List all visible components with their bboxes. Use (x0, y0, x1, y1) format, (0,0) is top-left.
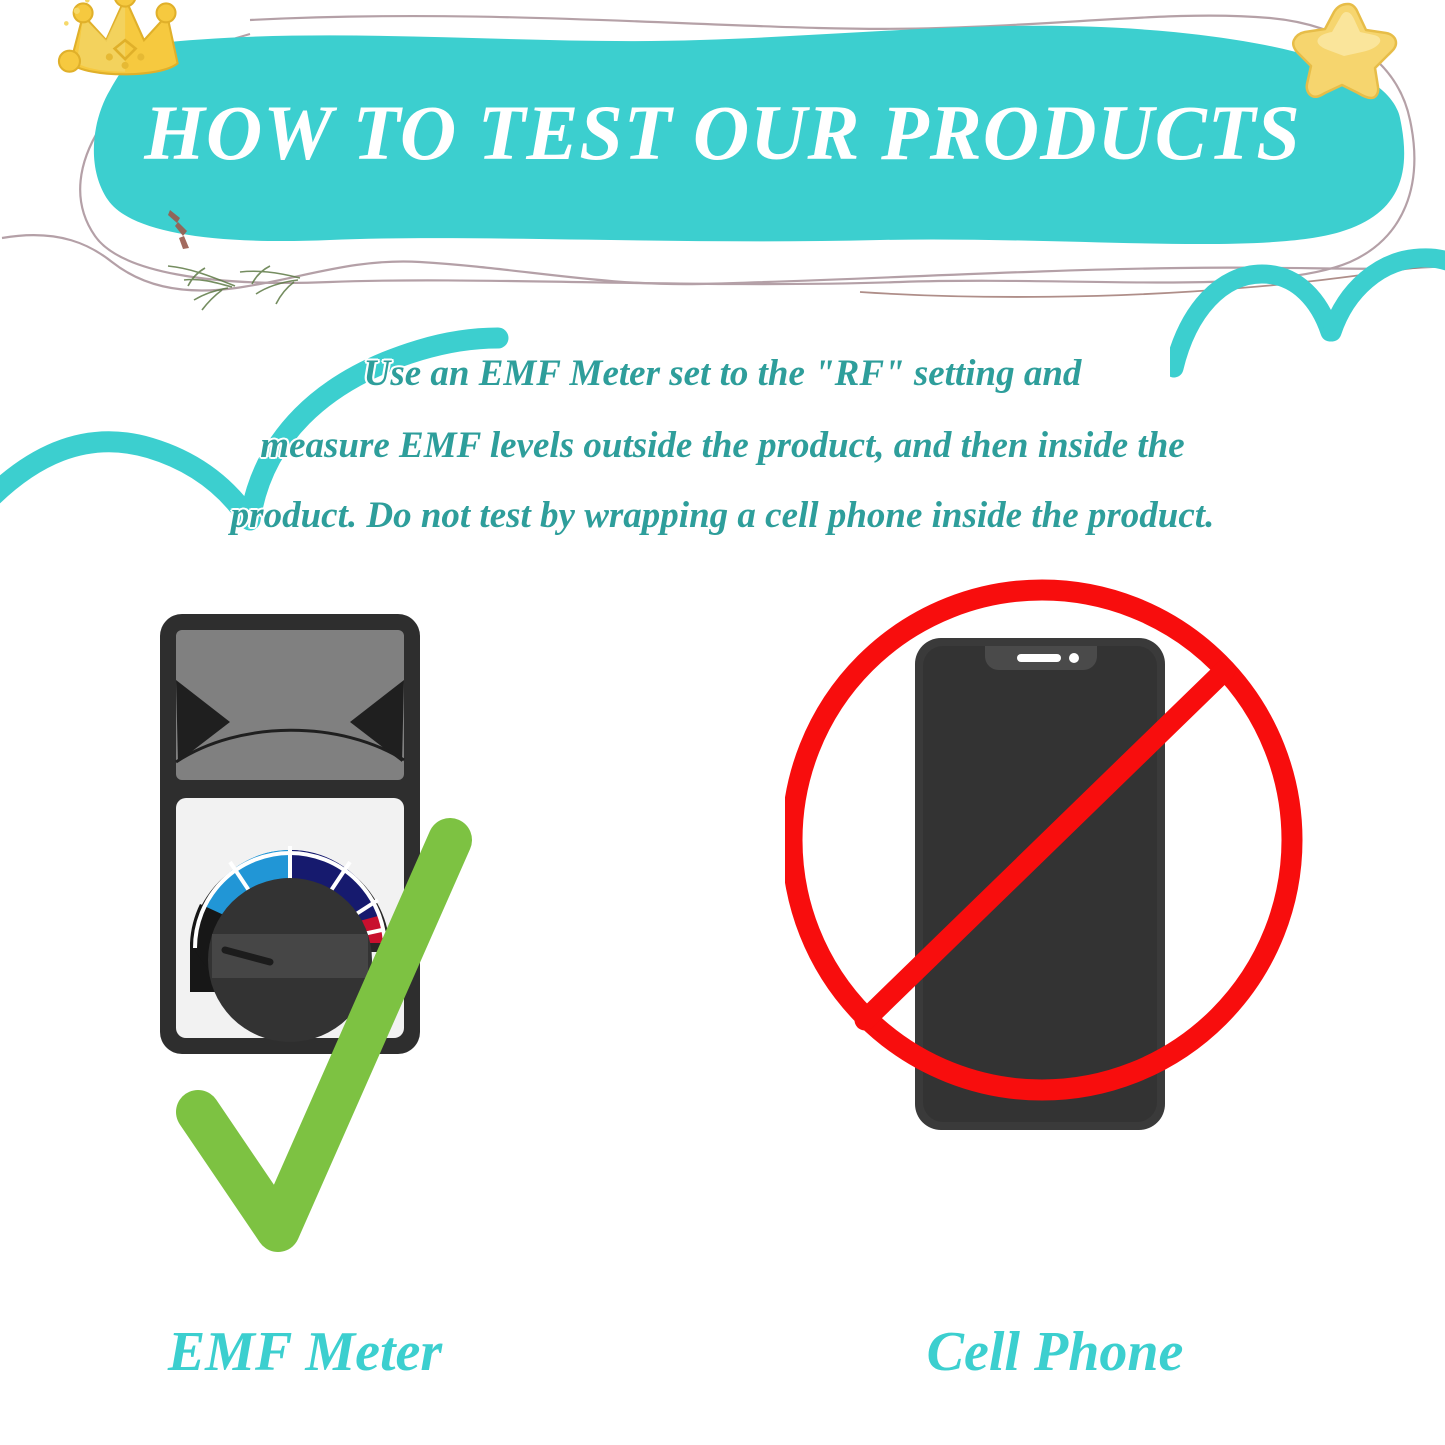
star-icon (1293, 4, 1396, 98)
smartphone-device (915, 638, 1165, 1130)
cell-phone-illustration (785, 570, 1325, 1140)
caption-emf-meter: EMF Meter (0, 1320, 610, 1384)
emf-meter-illustration (150, 600, 620, 1290)
infographic-page: HOW TO TEST OUR PRODUCTS Use an EMF Mete… (0, 0, 1445, 1445)
instruction-line-3: product. Do not test by wrapping a cell … (0, 494, 1445, 537)
instruction-line-2: measure EMF levels outside the product, … (0, 424, 1445, 467)
earpiece-speaker (1017, 654, 1061, 662)
crown-icon (59, 0, 178, 74)
page-title: HOW TO TEST OUR PRODUCTS (0, 94, 1445, 172)
front-camera-icon (1069, 653, 1079, 663)
instruction-paragraph: Use an EMF Meter set to the "RF" setting… (0, 334, 1445, 534)
instruction-line-1: Use an EMF Meter set to the "RF" setting… (0, 352, 1445, 395)
caption-cell-phone: Cell Phone (790, 1320, 1320, 1384)
